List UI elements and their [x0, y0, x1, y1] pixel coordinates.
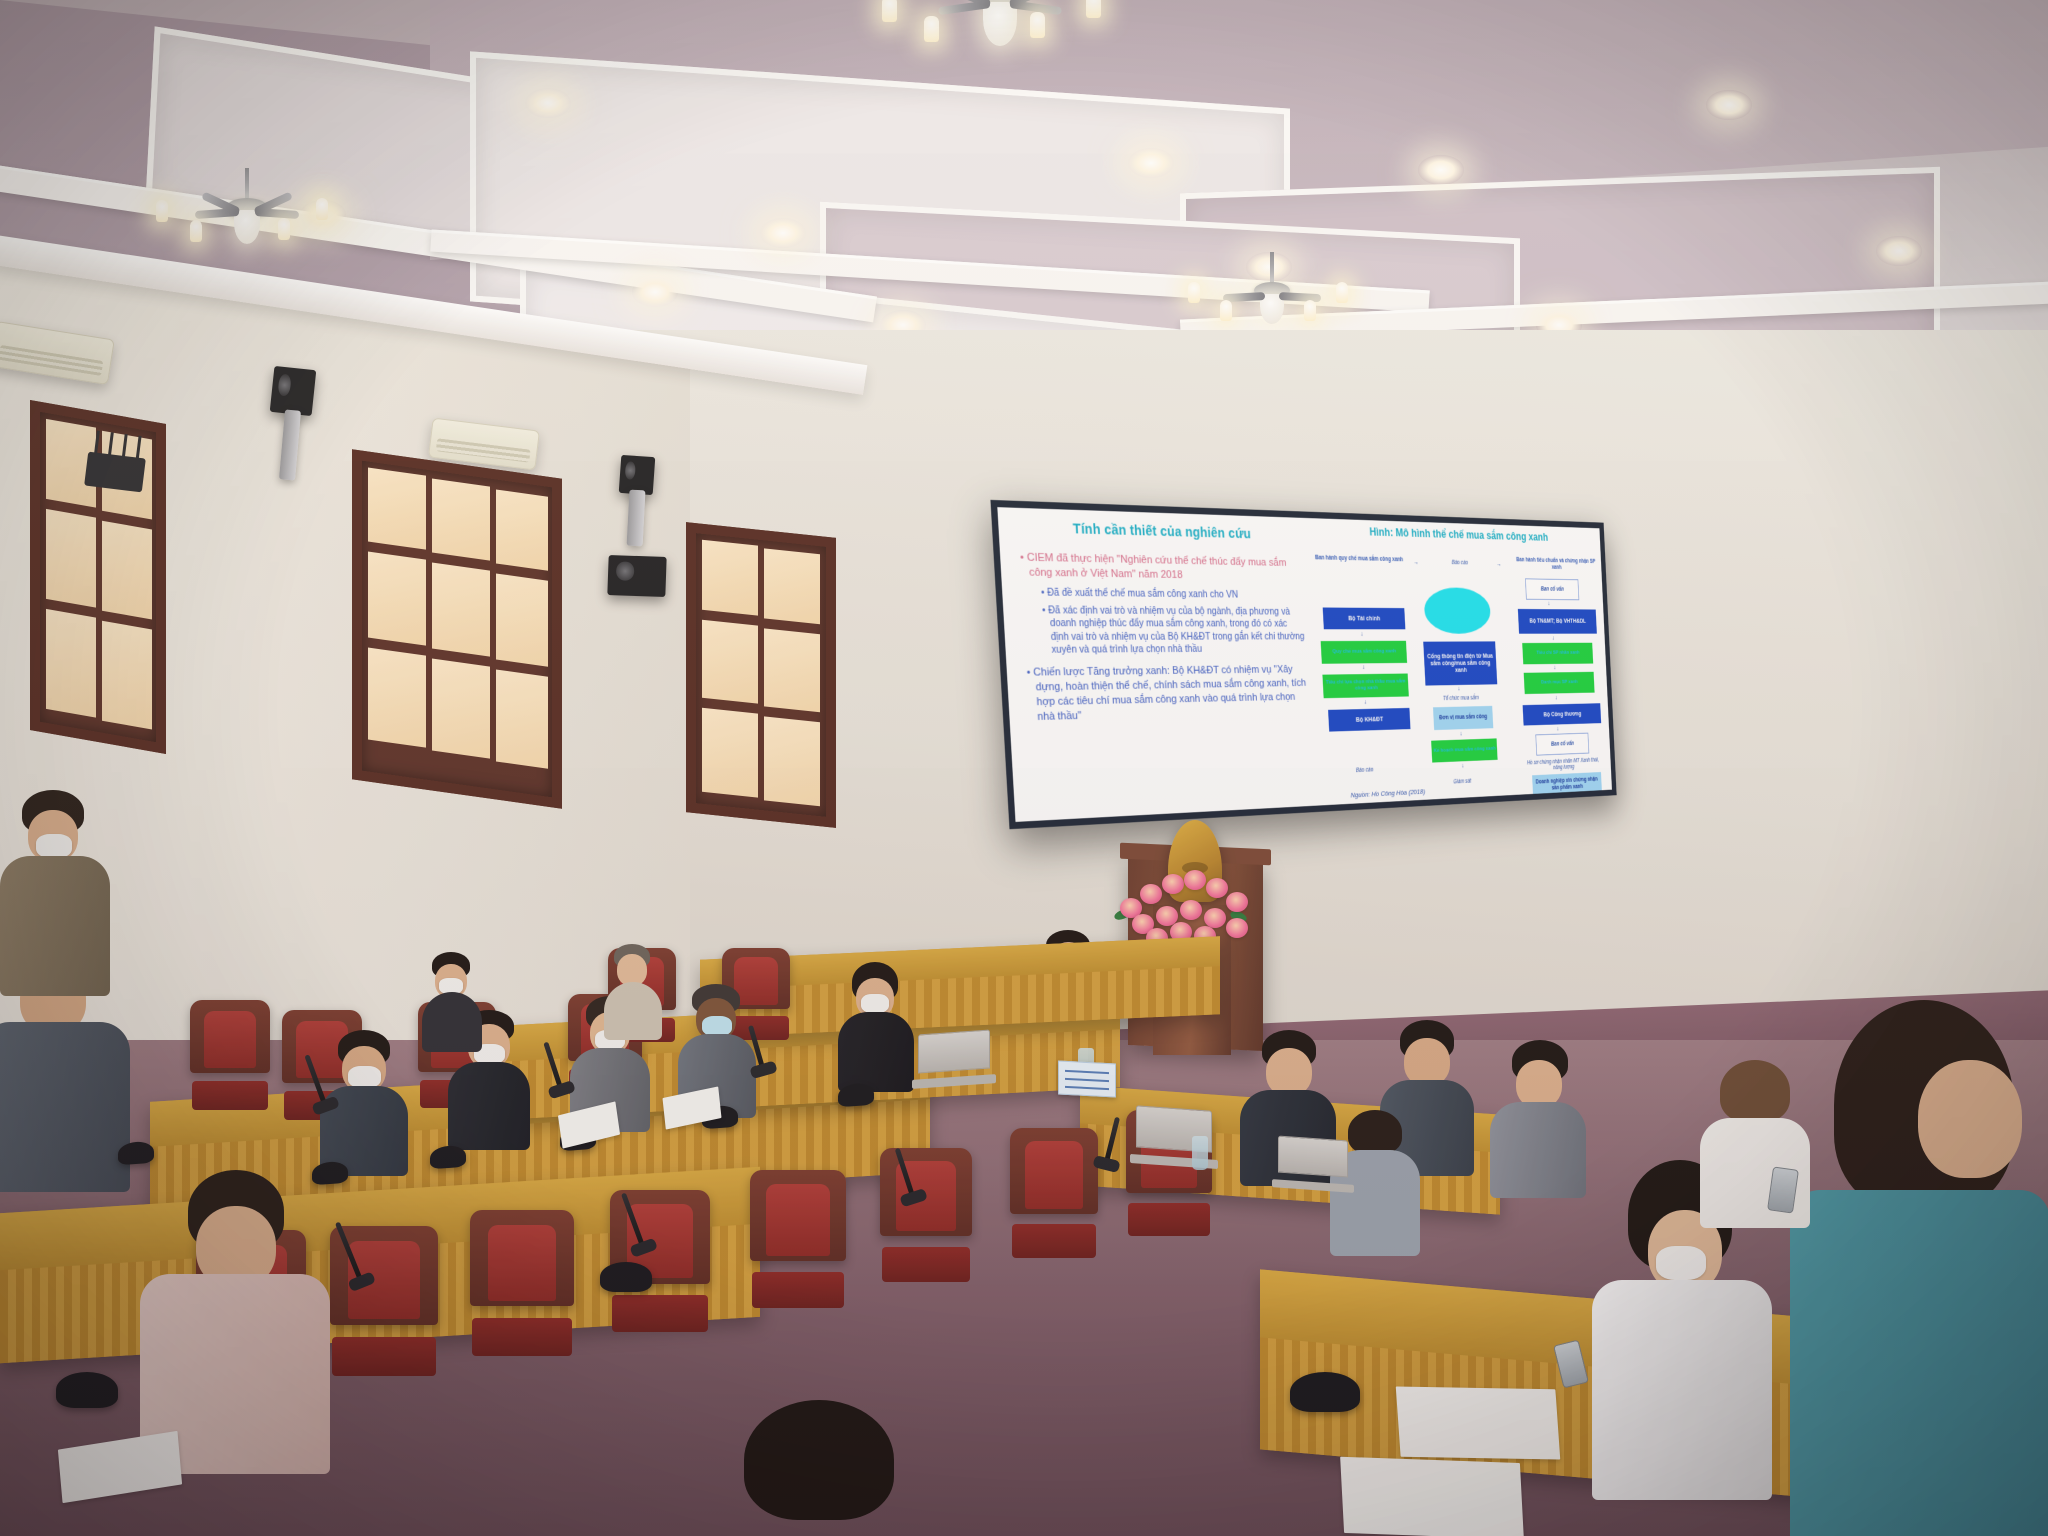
attendee	[838, 962, 914, 1088]
arrow-icon: ↓	[1556, 726, 1559, 732]
ceiling-downlight	[1876, 236, 1922, 266]
chandelier-bulb	[882, 0, 897, 22]
ceiling-downlight	[1418, 155, 1464, 185]
slide-subbullet-2: • Đã xác định vai trò và nhiệm vụ của bộ…	[1041, 604, 1306, 657]
window-pane	[368, 467, 426, 549]
interpretation-headset[interactable]	[312, 1161, 348, 1186]
arrow-icon: ↓	[1461, 763, 1464, 769]
arrow-icon: ↓	[1364, 699, 1367, 705]
speaker-mount-rail	[627, 490, 646, 547]
window-pane	[46, 609, 96, 718]
document-paper	[1396, 1386, 1560, 1459]
chair	[470, 1210, 574, 1356]
window-pane	[102, 521, 152, 620]
attendee	[1790, 1000, 2048, 1536]
arrow-icon: ↓	[1548, 601, 1551, 607]
chandelier-bulb	[1336, 282, 1348, 303]
diagram-label-ho-so-chung-nhan: Hồ sơ chứng nhận nhãn MT Xanh thái, năng…	[1523, 757, 1603, 773]
conference-room-photo: Tính cần thiết của nghiên cứu • CIEM đã …	[0, 0, 2048, 1536]
arrow-icon: ↓	[1555, 695, 1558, 701]
window	[686, 522, 836, 828]
diagram-box-tieu-chi-lua-chon-nha-thau: Tiêu chí lựa chọn nhà thầu mua sắm công …	[1323, 673, 1409, 698]
window-pane	[496, 489, 548, 570]
presentation-slide: Tính cần thiết của nghiên cứu • CIEM đã …	[997, 507, 1612, 822]
window-pane	[764, 548, 820, 624]
chair	[1010, 1128, 1098, 1258]
chandelier-stem	[1270, 252, 1274, 286]
diagram-label-top-right: Ban hành tiêu chuẩn và chứng nhận SP xan…	[1513, 557, 1599, 572]
flower-arrangement	[1110, 862, 1260, 948]
diagram-box-cong-thong-tin-dien-tu: Cổng thông tin điện tử Mua sắm công/mua …	[1424, 642, 1497, 686]
arrow-icon: ↓	[1360, 631, 1363, 637]
laptop-screen	[918, 1029, 990, 1073]
slide-title: Tính cần thiết của nghiên cứu	[1016, 520, 1300, 544]
window-pane	[102, 621, 152, 730]
slide-right-panel: Hình: Mô hình thể chế mua sắm công xanh …	[1312, 521, 1610, 802]
chandelier-bulb	[278, 218, 290, 240]
window-pane	[432, 658, 490, 758]
face-mask	[36, 834, 72, 858]
slide-bullet-1: • CIEM đã thực hiện "Nghiên cứu thể chế …	[1018, 550, 1303, 584]
wall-speaker	[607, 555, 666, 597]
window-pane	[496, 669, 548, 768]
chair	[610, 1190, 710, 1332]
attendee	[1490, 1040, 1586, 1190]
ceiling-downlight	[632, 277, 678, 307]
ceiling-downlight	[525, 88, 571, 118]
window-pane	[432, 478, 490, 560]
attendee	[700, 1400, 930, 1536]
chandelier	[152, 168, 342, 278]
diagram-box-bo-tai-chinh: Bộ Tài chính	[1322, 607, 1405, 630]
chair	[190, 1000, 270, 1110]
ceiling-downlight	[1128, 148, 1174, 178]
arrow-icon: ↓	[1552, 635, 1555, 641]
face-mask	[1656, 1246, 1706, 1280]
interpretation-headset[interactable]	[430, 1145, 466, 1170]
chandelier-bulb	[1188, 282, 1200, 303]
window-pane	[46, 509, 96, 608]
screen-frame: Tính cần thiết của nghiên cứu • CIEM đã …	[990, 500, 1616, 829]
arrow-icon: →	[1496, 562, 1501, 568]
diagram-box-bo-cong-thuong: Bộ Công thương	[1523, 703, 1601, 726]
face-mask	[702, 1016, 732, 1036]
projection-screen: Tính cần thiết của nghiên cứu • CIEM đã …	[990, 500, 1616, 829]
slide-bullet-2: • Chiến lược Tăng trưởng xanh: Bộ KH&ĐT …	[1025, 663, 1310, 724]
diagram-box-doanh-nghiep-chung-nhan: Doanh nghiệp xin chứng nhận sản phẩm xan…	[1532, 772, 1602, 796]
attendee	[422, 952, 482, 1048]
diagram-source: Nguồn: Hồ Công Hòa (2018)	[1350, 787, 1425, 799]
interpretation-headset[interactable]	[56, 1372, 118, 1408]
chair	[750, 1170, 846, 1308]
diagram-box-don-vi-mua-sam-cong: Đơn vị mua sắm công	[1433, 706, 1494, 730]
diagram-box-danh-muc-sp-xanh: Danh mục SP xanh	[1524, 672, 1594, 694]
chandelier-globe	[983, 2, 1017, 46]
diagram-box-ban-co-van-bottom: Ban cố vấn	[1535, 733, 1589, 756]
diagram-box-ban-co-van-top: Ban cố vấn	[1525, 578, 1580, 600]
window-pane	[702, 620, 758, 704]
window-pane	[764, 716, 820, 806]
laptop-screen	[1278, 1136, 1348, 1178]
laptop[interactable]	[1278, 1136, 1348, 1193]
diagram-label-to-chuc-mua-sam: Tổ chức mua sắm	[1423, 695, 1497, 703]
interpretation-headset[interactable]	[600, 1262, 652, 1292]
slide-subbullet-1: • Đã đề xuất thể chế mua sắm công xanh c…	[1040, 586, 1304, 602]
water-bottle	[1192, 1136, 1208, 1170]
diagram-box-bo-tnmt-vhthdl: Bộ TN&MT; Bộ VHTH&DL	[1518, 609, 1597, 634]
laptop[interactable]	[918, 1029, 990, 1088]
wifi-router	[84, 452, 146, 493]
chandelier-bulb	[156, 200, 168, 222]
chandelier-arm	[1279, 292, 1321, 302]
face-mask	[348, 1066, 381, 1088]
diagram-box-quy-che-mua-sam-cong-xanh: Quy chế mua sắm công xanh	[1321, 641, 1407, 664]
chair	[880, 1148, 972, 1282]
diagram-box-tieu-chi-sp-nhan-xanh: Tiêu chí SP nhãn xanh	[1523, 643, 1593, 664]
arrow-icon: ↓	[1553, 665, 1556, 671]
diagram-center-circle	[1424, 587, 1492, 633]
diagram-label-bottom-left: Báo cáo	[1331, 766, 1398, 776]
window-pane	[702, 708, 758, 798]
name-placard	[1058, 1060, 1116, 1097]
diagram-box-bo-khdt: Bộ KH&ĐT	[1328, 708, 1411, 732]
diagram-title: Hình: Mô hình thể chế mua sắm công xanh	[1312, 524, 1598, 545]
diagram-label-bottom-center: Giám sát	[1428, 777, 1497, 787]
arrow-icon: ↓	[1362, 664, 1365, 670]
window-pane	[496, 573, 548, 666]
diagram-box-ke-hoach-mua-sam-cong-xanh: Kế hoạch mua sắm công xanh	[1431, 739, 1497, 763]
window-pane	[432, 562, 490, 656]
diagram-label-top-left: Ban hành quy chế mua sắm công xanh	[1313, 555, 1405, 564]
window	[352, 449, 562, 809]
chandelier-stem	[245, 168, 249, 202]
arrow-icon: ↓	[1460, 730, 1463, 736]
slide-left-panel: Tính cần thiết của nghiên cứu • CIEM đã …	[1009, 514, 1321, 815]
interpretation-headset[interactable]	[1290, 1372, 1360, 1412]
interpretation-headset[interactable]	[118, 1141, 154, 1166]
window-pane	[702, 540, 758, 616]
wall-speaker	[270, 366, 317, 416]
chandelier-bulb	[190, 220, 202, 242]
chandelier-bulb	[1086, 0, 1101, 18]
chandelier-bulb	[316, 198, 328, 220]
diagram-label-top-center: Báo cáo	[1428, 559, 1491, 567]
chandelier	[880, 0, 1120, 80]
arrow-icon: →	[1414, 560, 1419, 566]
attendee	[140, 1170, 330, 1470]
document-paper	[1340, 1457, 1524, 1536]
window-pane	[368, 647, 426, 747]
ceiling-downlight	[760, 218, 806, 248]
chandelier-bulb	[1030, 12, 1045, 38]
arrow-icon: ↓	[1458, 686, 1461, 692]
chandelier-bulb	[924, 16, 939, 42]
attendee	[0, 790, 110, 990]
interpretation-headset[interactable]	[838, 1083, 874, 1108]
window-pane	[368, 551, 426, 645]
window-pane	[764, 628, 820, 712]
chandelier-bulb	[1220, 300, 1232, 321]
chandelier-bulb	[1304, 300, 1316, 321]
face-mask	[861, 994, 889, 1013]
attendee	[604, 944, 662, 1036]
ceiling-downlight	[1706, 90, 1752, 120]
